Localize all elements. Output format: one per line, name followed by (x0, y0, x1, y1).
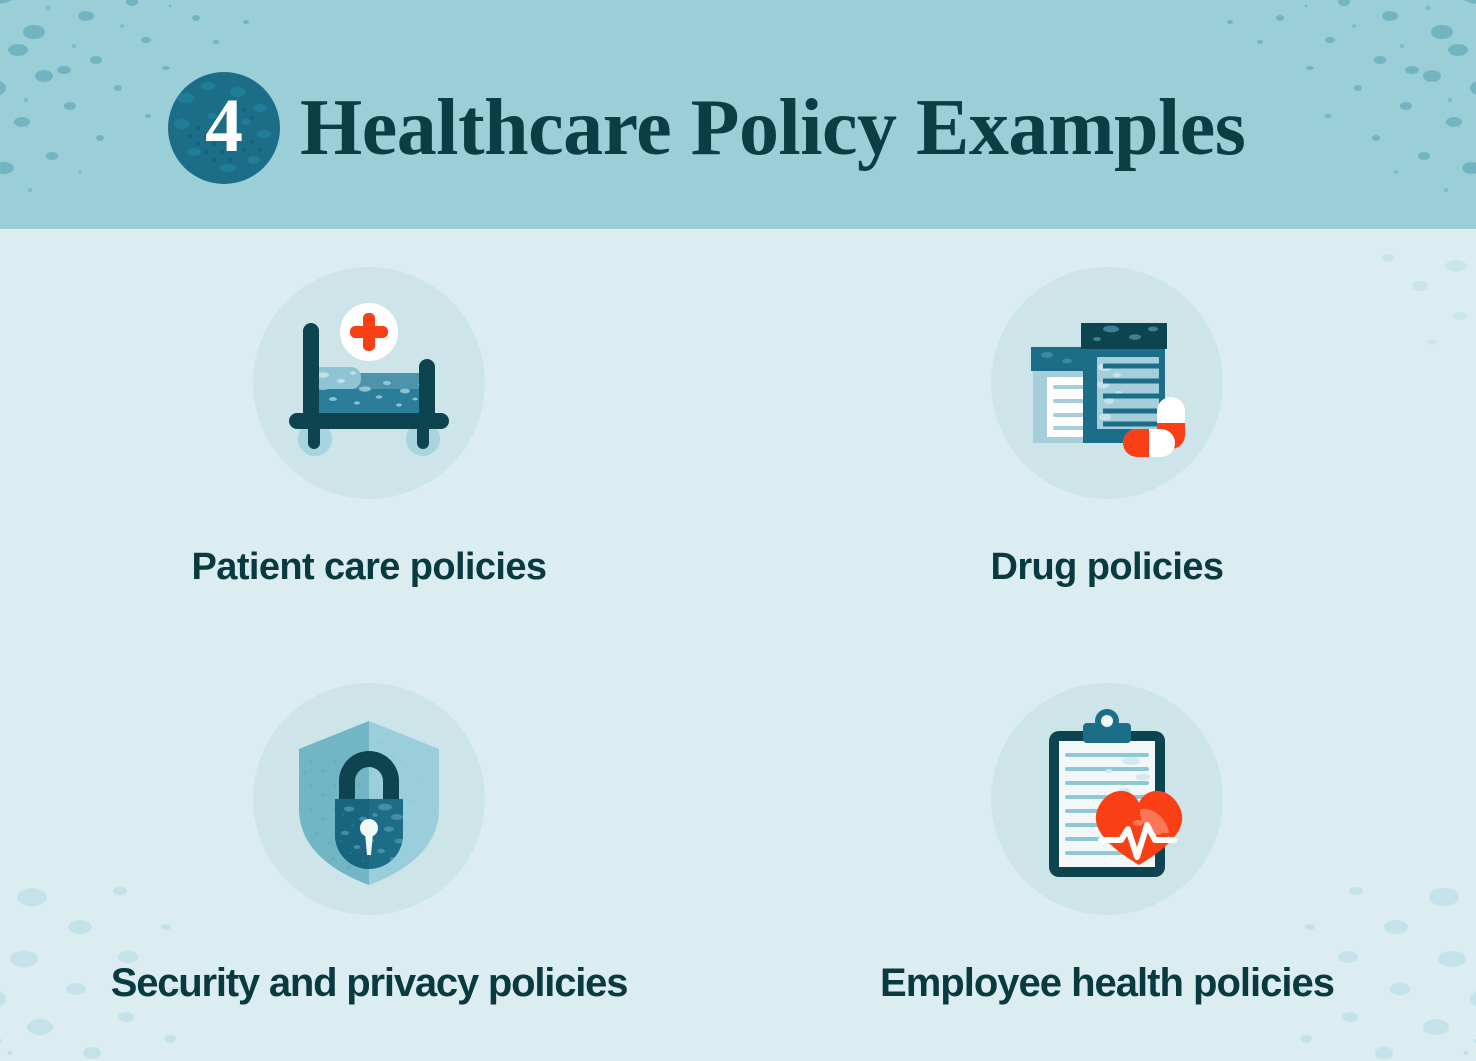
policy-item-drug[interactable]: Drug policies (738, 229, 1476, 645)
infographic-canvas: 4 Healthcare Policy Examples (0, 0, 1476, 1061)
policy-grid: Patient care policies (0, 229, 1476, 1061)
policy-label-patient-care: Patient care policies (0, 547, 738, 589)
hospital-bed-icon (253, 267, 485, 499)
pill-bottles-icon-wrap (991, 267, 1223, 499)
clipboard-heart-icon (991, 683, 1223, 915)
clipboard-heart-icon-wrap (991, 683, 1223, 915)
pill-bottles-icon (991, 267, 1223, 499)
hospital-bed-icon-wrap (253, 267, 485, 499)
policy-label-employee-health: Employee health policies (738, 961, 1476, 1005)
badge-number-text: 4 (168, 72, 280, 184)
step-number-badge: 4 (168, 72, 280, 184)
shield-lock-icon-wrap (253, 683, 485, 915)
policy-item-patient-care[interactable]: Patient care policies (0, 229, 738, 645)
policy-item-employee-health[interactable]: Employee health policies (738, 645, 1476, 1061)
page-title: Healthcare Policy Examples (300, 70, 1245, 186)
shield-lock-icon (253, 683, 485, 915)
policy-label-drug: Drug policies (738, 547, 1476, 589)
policy-item-security-privacy[interactable]: Security and privacy policies (0, 645, 738, 1061)
header-band: 4 Healthcare Policy Examples (0, 0, 1476, 229)
policy-label-security-privacy: Security and privacy policies (0, 961, 738, 1005)
